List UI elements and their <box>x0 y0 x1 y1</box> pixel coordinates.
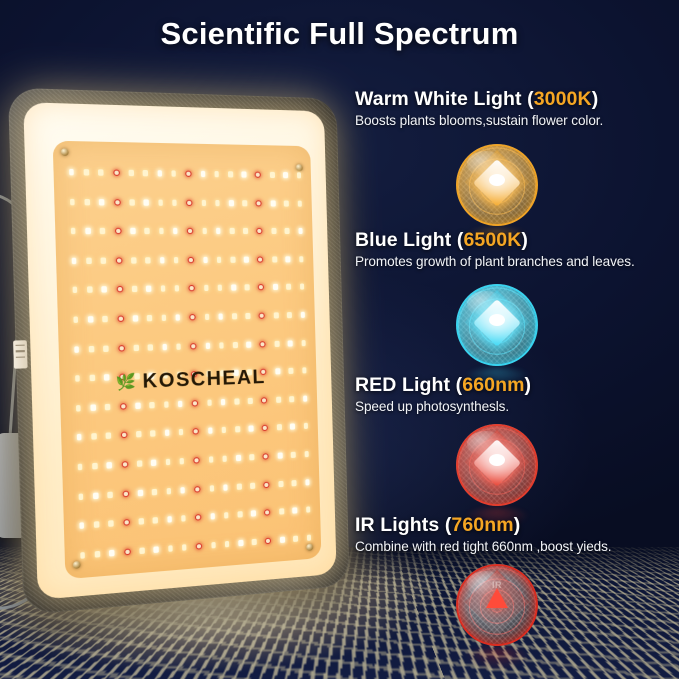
led-warm-white <box>208 428 213 434</box>
led-red <box>260 341 266 347</box>
led-red <box>264 509 270 516</box>
led-warm-white <box>293 535 298 541</box>
led-warm-white <box>71 228 76 234</box>
led-warm-white <box>176 343 181 349</box>
led-warm-white <box>106 433 111 440</box>
led-warm-white <box>275 340 280 346</box>
led-warm-white <box>272 228 277 234</box>
feature-warm-white: Warm White Light (3000K) Boosts plants b… <box>355 88 679 128</box>
led-warm-white <box>151 431 156 438</box>
led-warm-white <box>301 340 306 346</box>
led-warm-white <box>136 402 141 409</box>
led-warm-white <box>160 286 165 292</box>
led-warm-white <box>211 542 216 549</box>
led-warm-white <box>251 511 256 517</box>
led-red <box>117 316 124 322</box>
led-warm-white <box>105 404 110 411</box>
led-warm-white <box>131 257 136 263</box>
led-warm-white <box>283 172 288 178</box>
led-red <box>258 284 264 290</box>
led-warm-white <box>168 545 173 552</box>
led-red <box>188 257 194 263</box>
led-warm-white <box>134 344 139 350</box>
led-warm-white <box>298 228 303 234</box>
led-warm-white <box>271 200 276 206</box>
led-warm-white <box>274 312 279 318</box>
led-warm-white <box>202 228 207 234</box>
led-red <box>262 425 268 431</box>
led-warm-white <box>250 482 255 488</box>
feature-title-suffix: ) <box>592 88 599 110</box>
led-red <box>194 486 200 493</box>
led-warm-white <box>229 200 234 206</box>
feature-title: IR Lights (760nm) <box>355 514 679 537</box>
led-warm-white <box>290 424 295 430</box>
led-warm-white <box>181 515 186 522</box>
led-warm-white <box>160 257 165 263</box>
led-row <box>73 312 305 323</box>
led-warm-white <box>145 228 150 234</box>
led-warm-white <box>73 316 78 323</box>
led-red <box>114 228 121 234</box>
led-warm-white <box>91 434 96 441</box>
led-warm-white <box>159 228 164 234</box>
led-warm-white <box>154 546 159 553</box>
led-red <box>256 200 262 206</box>
led-red <box>123 519 130 526</box>
led-row <box>71 228 303 234</box>
led-warm-white <box>236 455 241 461</box>
led-warm-white <box>246 341 251 347</box>
led-row <box>78 451 309 470</box>
led-warm-white <box>292 480 297 486</box>
led-warm-white <box>278 453 283 459</box>
led-warm-white <box>108 491 113 498</box>
led-warm-white <box>277 425 282 431</box>
led-warm-white <box>210 485 215 491</box>
led-warm-white <box>139 518 144 525</box>
led-warm-white <box>164 401 169 407</box>
mounting-screw-icon <box>61 148 69 156</box>
led-red <box>114 199 121 205</box>
led-red <box>263 453 269 459</box>
led-red <box>190 343 196 349</box>
led-warm-white <box>230 256 235 262</box>
led-warm-white <box>162 344 167 350</box>
led-warm-white <box>99 199 104 205</box>
led-warm-white <box>270 172 275 178</box>
led-warm-white <box>101 257 106 263</box>
led-warm-white <box>290 396 295 402</box>
led-warm-white <box>86 257 91 263</box>
product-infographic: Scientific Full Spectrum 🌿 KOSCHEAL Warm… <box>0 0 679 679</box>
led-warm-white <box>243 228 248 234</box>
led-warm-white <box>279 509 284 515</box>
led-warm-white <box>178 401 183 407</box>
led-warm-white <box>238 540 243 546</box>
led-warm-white <box>222 456 227 462</box>
led-red <box>196 543 202 550</box>
led-warm-white <box>143 170 148 176</box>
led-warm-white <box>225 541 230 548</box>
led-warm-white <box>299 256 304 262</box>
led-warm-white <box>84 169 89 175</box>
led-warm-white <box>174 257 179 263</box>
led-warm-white <box>182 544 187 551</box>
led-warm-white <box>231 285 236 291</box>
led-red <box>257 256 263 262</box>
led-row <box>79 479 310 500</box>
led-warm-white <box>180 487 185 494</box>
led-warm-white <box>148 344 153 350</box>
brand-name: KOSCHEAL <box>142 367 266 394</box>
led-warm-white <box>165 459 170 466</box>
led-warm-white <box>85 199 90 205</box>
feature-title-suffix: ) <box>521 229 528 251</box>
feature-title-prefix: RED Light ( <box>355 374 462 396</box>
led-warm-white <box>287 312 292 318</box>
led-warm-white <box>201 171 206 177</box>
led-warm-white <box>306 534 311 540</box>
feature-title-prefix: Blue Light ( <box>355 229 463 251</box>
led-warm-white <box>249 426 254 432</box>
led-red <box>118 345 125 352</box>
led-warm-white <box>223 484 228 490</box>
led-warm-white <box>153 517 158 524</box>
led-warm-white <box>303 423 308 429</box>
ir-light-sphere-icon: IR <box>456 564 548 672</box>
led-warm-white <box>103 345 108 351</box>
led-warm-white <box>221 399 226 405</box>
led-warm-white <box>87 287 92 293</box>
led-warm-white <box>95 551 100 558</box>
led-warm-white <box>297 200 302 206</box>
led-warm-white <box>85 228 90 234</box>
feature-title-prefix: Warm White Light ( <box>355 88 534 110</box>
led-red <box>257 228 263 234</box>
led-warm-white <box>80 552 85 559</box>
feature-blue-light: Blue Light (6500K) Promotes growth of pl… <box>355 229 679 269</box>
mounting-screw-icon <box>296 164 303 171</box>
led-warm-white <box>248 398 253 404</box>
feature-red-light: RED Light (660nm) Speed up photosynthesl… <box>355 374 679 414</box>
led-warm-white <box>131 228 136 234</box>
led-warm-white <box>136 431 141 438</box>
led-warm-white <box>165 430 170 436</box>
led-red <box>116 286 123 292</box>
led-warm-white <box>207 399 212 405</box>
led-warm-white <box>245 285 250 291</box>
led-warm-white <box>303 395 308 401</box>
led-warm-white <box>167 516 172 523</box>
led-warm-white <box>172 199 177 205</box>
led-warm-white <box>291 452 296 458</box>
led-red <box>265 538 271 545</box>
led-warm-white <box>79 523 84 530</box>
led-warm-white <box>94 522 99 529</box>
led-warm-white <box>70 198 75 204</box>
led-warm-white <box>242 171 247 177</box>
led-warm-white <box>276 397 281 403</box>
led-warm-white <box>209 456 214 462</box>
led-warm-white <box>284 200 289 206</box>
led-warm-white <box>206 342 211 348</box>
led-red <box>113 170 120 176</box>
led-red <box>115 257 122 263</box>
led-warm-white <box>203 257 208 263</box>
led-warm-white <box>144 199 149 205</box>
led-warm-white <box>204 285 209 291</box>
led-row <box>77 423 308 441</box>
feature-title-suffix: ) <box>514 514 521 536</box>
led-warm-white <box>215 200 220 206</box>
feature-description: Boosts plants blooms,sustain flower colo… <box>355 113 679 128</box>
led-warm-white <box>235 427 240 433</box>
led-warm-white <box>108 521 113 528</box>
led-warm-white <box>238 511 243 517</box>
led-red <box>185 171 191 177</box>
led-warm-white <box>102 287 107 293</box>
led-red <box>261 397 267 403</box>
feature-description: Promotes growth of plant branches and le… <box>355 254 679 269</box>
led-warm-white <box>166 488 171 495</box>
led-warm-white <box>252 539 257 545</box>
led-red <box>120 432 127 439</box>
led-red <box>195 514 201 521</box>
led-warm-white <box>147 315 152 321</box>
led-warm-white <box>216 228 221 234</box>
led-warm-white <box>304 451 309 457</box>
led-warm-white <box>152 489 157 496</box>
led-warm-white <box>234 398 239 404</box>
feature-title-suffix: ) <box>525 374 532 396</box>
led-warm-white <box>214 171 219 177</box>
led-red <box>255 172 261 178</box>
led-warm-white <box>146 286 151 292</box>
led-warm-white <box>150 402 155 408</box>
led-warm-white <box>285 228 290 234</box>
led-warm-white <box>72 258 77 264</box>
led-warm-white <box>137 460 142 467</box>
led-warm-white <box>300 284 305 290</box>
side-label <box>13 340 28 369</box>
led-warm-white <box>218 285 223 291</box>
feature-ir-light: IR Lights (760nm) Combine with red tight… <box>355 514 679 554</box>
led-red <box>189 314 195 320</box>
led-warm-white <box>233 342 238 348</box>
led-red <box>264 481 270 487</box>
led-red <box>121 461 128 468</box>
feature-description: Combine with red tight 660nm ,boost yied… <box>355 539 679 554</box>
led-red <box>188 285 194 291</box>
feature-title: RED Light (660nm) <box>355 374 679 397</box>
led-warm-white <box>171 170 176 176</box>
led-warm-white <box>92 463 97 470</box>
led-warm-white <box>129 170 134 176</box>
led-warm-white <box>218 314 223 320</box>
led-warm-white <box>69 169 74 175</box>
led-row <box>72 256 304 264</box>
led-warm-white <box>130 199 135 205</box>
led-warm-white <box>179 458 184 465</box>
led-warm-white <box>174 286 179 292</box>
led-red <box>192 400 198 406</box>
led-red <box>192 429 198 436</box>
led-warm-white <box>98 169 103 175</box>
led-warm-white <box>272 256 277 262</box>
led-warm-white <box>132 286 137 292</box>
led-warm-white <box>107 462 112 469</box>
feature-title-value: 660nm <box>462 374 524 396</box>
led-warm-white <box>151 460 156 467</box>
led-warm-white <box>222 427 227 433</box>
led-warm-white <box>286 284 291 290</box>
led-warm-white <box>73 287 78 293</box>
mounting-screw-icon <box>73 561 81 569</box>
led-warm-white <box>146 257 151 263</box>
led-warm-white <box>306 507 311 513</box>
led-warm-white <box>88 316 93 322</box>
feature-title-value: 760nm <box>451 514 513 536</box>
led-warm-white <box>205 314 210 320</box>
led-board: 🌿 KOSCHEAL <box>53 141 322 580</box>
led-warm-white <box>273 284 278 290</box>
led-red <box>119 403 126 410</box>
led-warm-white <box>158 199 163 205</box>
led-warm-white <box>237 483 242 489</box>
feature-description: Speed up photosynthesls. <box>355 399 679 414</box>
led-warm-white <box>179 429 184 435</box>
led-warm-white <box>232 313 237 319</box>
led-warm-white <box>173 228 178 234</box>
led-warm-white <box>109 550 114 557</box>
led-warm-white <box>175 314 180 320</box>
led-red <box>124 548 131 555</box>
led-warm-white <box>246 313 251 319</box>
led-red <box>259 313 265 319</box>
mounting-screw-icon <box>306 543 313 551</box>
led-warm-white <box>100 228 105 234</box>
feature-title: Warm White Light (3000K) <box>355 88 679 111</box>
led-warm-white <box>297 172 302 178</box>
led-warm-white <box>89 346 94 353</box>
led-warm-white <box>217 257 222 263</box>
led-row <box>73 284 305 294</box>
led-warm-white <box>228 171 233 177</box>
led-warm-white <box>288 340 293 346</box>
led-red <box>187 228 193 234</box>
led-row <box>74 340 305 353</box>
led-warm-white <box>138 489 143 496</box>
led-warm-white <box>244 256 249 262</box>
leaf-icon: 🌿 <box>116 374 137 391</box>
led-warm-white <box>201 199 206 205</box>
led-warm-white <box>140 547 145 554</box>
led-warm-white <box>133 315 138 321</box>
feature-title-value: 3000K <box>534 88 592 110</box>
led-row <box>70 198 302 206</box>
led-warm-white <box>280 537 285 543</box>
led-warm-white <box>76 405 81 412</box>
feature-title: Blue Light (6500K) <box>355 229 679 252</box>
led-warm-white <box>91 404 96 411</box>
led-red <box>122 490 129 497</box>
led-warm-white <box>242 200 247 206</box>
led-warm-white <box>300 312 305 318</box>
led-row <box>69 169 301 179</box>
led-warm-white <box>224 512 229 518</box>
led-warm-white <box>286 256 291 262</box>
led-warm-white <box>219 342 224 348</box>
led-warm-white <box>77 434 82 441</box>
led-warm-white <box>210 513 215 520</box>
led-warm-white <box>93 492 98 499</box>
led-warm-white <box>279 481 284 487</box>
feature-title-prefix: IR Lights ( <box>355 514 451 536</box>
led-warm-white <box>250 454 255 460</box>
grow-light-panel: 🌿 KOSCHEAL <box>8 88 350 616</box>
led-warm-white <box>74 346 79 353</box>
led-warm-white <box>157 170 162 176</box>
led-row <box>79 507 310 530</box>
led-warm-white <box>103 316 108 322</box>
led-red <box>186 199 192 205</box>
led-warm-white <box>305 479 310 485</box>
led-row <box>80 534 311 558</box>
feature-title-value: 6500K <box>463 229 521 251</box>
page-title: Scientific Full Spectrum <box>0 16 679 52</box>
led-red <box>193 457 199 464</box>
led-warm-white <box>293 508 298 514</box>
led-warm-white <box>78 464 83 471</box>
led-warm-white <box>161 315 166 321</box>
led-warm-white <box>79 493 84 500</box>
led-warm-white <box>230 228 235 234</box>
